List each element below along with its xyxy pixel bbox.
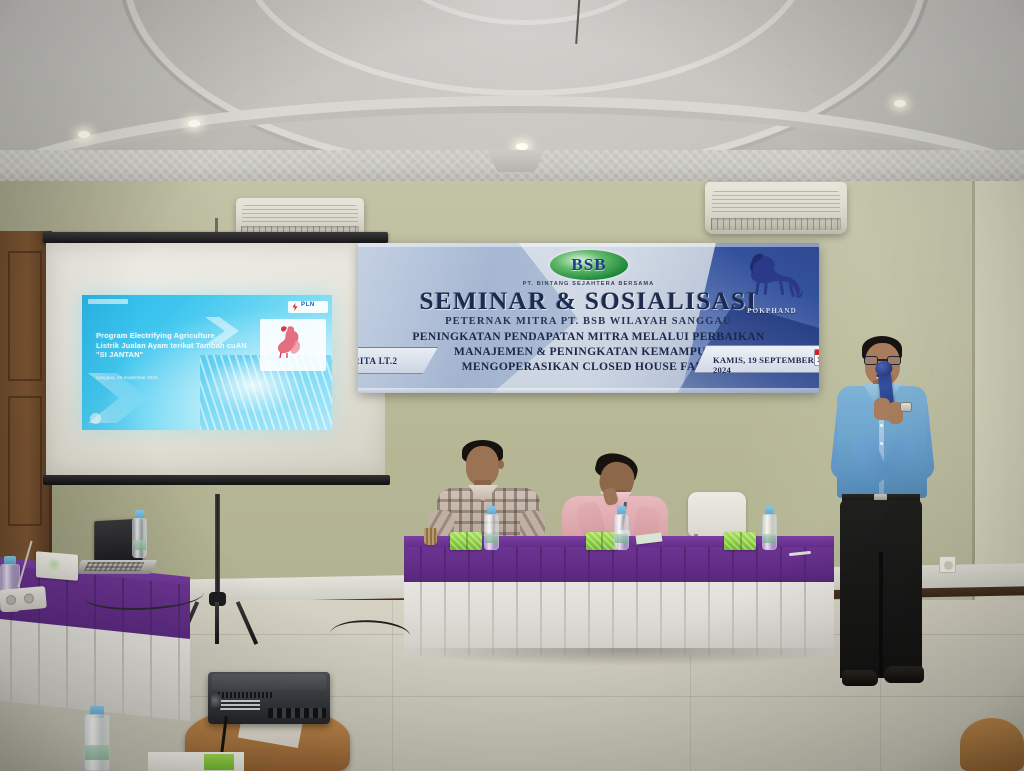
outlet-socket <box>944 561 953 570</box>
bottle-label <box>615 534 628 543</box>
power-strip[interactable] <box>0 586 47 612</box>
laptop-keyboard[interactable] <box>84 562 144 571</box>
water-bottle <box>132 510 147 558</box>
recessed-ceiling-light <box>516 143 528 150</box>
green-snack-box <box>450 532 482 550</box>
sponsor-logo: POKPHAND <box>736 249 808 327</box>
calendar-icon-day: 19 <box>815 355 819 366</box>
power-strip-socket <box>24 593 35 604</box>
bottle-label <box>85 745 109 759</box>
recessed-ceiling-light <box>78 131 90 138</box>
door-panel-lower <box>8 396 42 526</box>
lion-icon <box>736 249 808 307</box>
round-side-table-right <box>960 718 1024 771</box>
screen-top-bar <box>43 232 388 243</box>
pln-logo-text: PLN <box>301 302 315 308</box>
power-outlet[interactable] <box>939 556 956 573</box>
trouser-gap <box>879 552 883 678</box>
rooster-icon <box>272 324 302 358</box>
slide-mascot-box <box>260 319 326 371</box>
sponsor-logo-text: POKPHAND <box>736 307 808 315</box>
banner-body-line1: PENINGKATAN PENDAPATAN MITRA MELALUI PER… <box>358 329 819 344</box>
ac-grille <box>242 205 357 223</box>
shoe-left <box>842 670 878 686</box>
green-snack-box <box>204 754 234 770</box>
screen-bottom-bar <box>43 475 390 485</box>
slide-corner-tag <box>88 299 128 304</box>
floor-package <box>148 752 244 771</box>
projector-top-cover <box>212 674 326 690</box>
tripod-leg <box>215 602 219 644</box>
venue-tag-text: RITA LT.2 <box>358 356 397 366</box>
ceiling <box>0 0 1024 168</box>
chair-backrest <box>688 492 746 536</box>
bsb-logo-text: BSB <box>550 255 628 275</box>
bottle-body <box>614 514 629 550</box>
standing-speaker <box>822 336 940 716</box>
table-skirt-white <box>404 582 834 655</box>
slide-meta: Sanggau, 19 September 2024 <box>96 374 226 381</box>
screen-canvas: PLN Program Electrifying Agriculture Lis… <box>46 243 385 475</box>
slide-title-line3: "SI JANTAN" <box>96 350 256 360</box>
paper-cup <box>424 528 437 545</box>
pln-logo: PLN <box>288 301 328 313</box>
projector-lens <box>211 694 221 710</box>
head-table <box>404 536 834 656</box>
shirt-button <box>880 424 883 427</box>
slide-title: Program Electrifying Agriculture Listrik… <box>96 331 256 360</box>
banner-top-strip <box>358 243 819 247</box>
ear <box>498 460 504 469</box>
recessed-ceiling-light <box>188 120 200 127</box>
water-bottle <box>84 706 110 771</box>
date-tag-text: KAMIS, 19 SEPTEMBER 2024 <box>713 355 819 375</box>
split-ac-unit-right <box>705 182 847 234</box>
event-banner: BSB PT. BINTANG SEJAHTERA BERSAMA SEMINA… <box>358 243 819 393</box>
green-snack-box <box>724 532 756 550</box>
bottle-body <box>762 514 777 550</box>
water-bottle <box>484 506 499 550</box>
slide-footer-badge <box>90 413 101 424</box>
projector-label <box>220 700 260 710</box>
bottle-body <box>132 518 147 558</box>
projector-ports <box>268 708 326 718</box>
slide-title-line2: Listrik Jualan Ayam terikat Tambah cuAN <box>96 341 256 351</box>
bottle-body <box>84 714 110 771</box>
box-label <box>46 558 62 571</box>
ac-grille <box>712 191 840 215</box>
slide-title-line1: Program Electrifying Agriculture <box>96 331 256 341</box>
wristwatch <box>900 402 912 412</box>
table-skirt-purple <box>404 547 834 583</box>
bottle-label <box>133 540 146 550</box>
banner-bottom-strip <box>358 388 819 393</box>
shirt-button <box>880 442 883 445</box>
projector-vent <box>218 692 272 698</box>
date-tag: KAMIS, 19 SEPTEMBER 2024 <box>694 345 819 373</box>
power-strip-socket <box>6 595 17 606</box>
recessed-ceiling-light <box>894 100 906 107</box>
microphone-head <box>875 360 893 377</box>
calendar-icon: 19 <box>814 349 819 366</box>
white-box <box>36 551 78 581</box>
seminar-photo-scene: PLN Program Electrifying Agriculture Lis… <box>0 0 1024 771</box>
table-shadow <box>396 648 846 666</box>
bsb-logo: BSB <box>550 250 628 280</box>
ac-vent <box>711 218 842 229</box>
slide-meta-line1: Sanggau, 19 September 2024 <box>96 374 226 381</box>
bottle-body <box>484 514 499 550</box>
bottle-label <box>485 534 498 543</box>
green-snack-box <box>586 532 617 550</box>
tripod-pole <box>215 494 220 602</box>
bottle-label <box>763 534 776 543</box>
projection-screen: PLN Program Electrifying Agriculture Lis… <box>43 232 388 502</box>
shoe-right <box>884 666 924 683</box>
pln-lightning-icon <box>291 303 299 311</box>
presentation-slide: PLN Program Electrifying Agriculture Lis… <box>82 295 332 430</box>
door-panel-upper <box>8 251 42 381</box>
wall-corner <box>972 181 975 601</box>
water-bottle <box>762 506 777 550</box>
water-bottle <box>614 506 629 550</box>
